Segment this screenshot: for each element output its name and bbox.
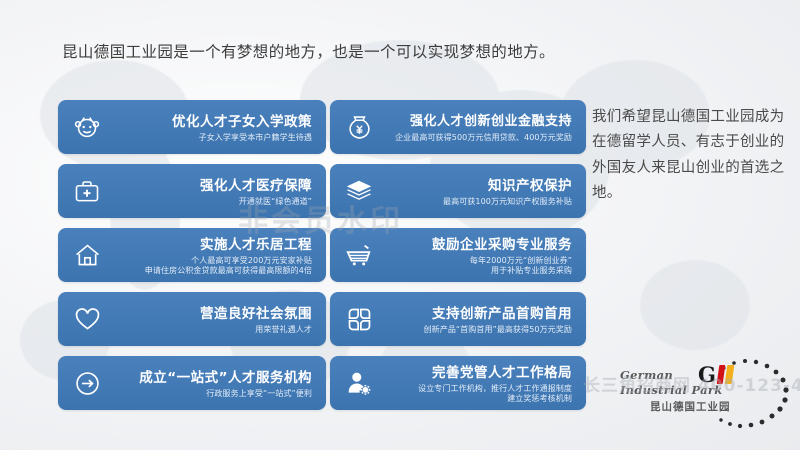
card-subline: 用于补贴专业服务采购 [380, 266, 572, 275]
arrow-circle-icon [66, 362, 108, 404]
card-headline: 成立“一站式”人才服务机构 [139, 370, 312, 386]
card-headline: 鼓励企业采购专业服务 [432, 237, 572, 253]
gip-logo: G German Industrial Park 昆山德国工业园 [620, 368, 790, 430]
gip-mark: G [698, 364, 733, 385]
card-headline: 营造良好社会氛围 [200, 306, 312, 322]
four-petals-icon [338, 298, 380, 340]
card-subline: 建立奖惩考核机制 [380, 394, 572, 403]
card-optimize-children-enrollment[interactable]: 优化人才子女入学政策 子女入学享受本市户籍学生待遇 [58, 100, 326, 154]
card-subline: 开通就医“绿色通道” [108, 197, 312, 206]
card-medical-guarantee[interactable]: 强化人才医疗保障 开通就医“绿色通道” [58, 164, 326, 218]
card-text: 优化人才子女入学政策 子女入学享受本市户籍学生待遇 [108, 112, 316, 143]
card-text: 强化人才创新创业金融支持 企业最高可获得500万元信用贷款、400万元奖励 [380, 111, 576, 142]
logo-yellow-bar [725, 365, 735, 384]
medical-kit-icon [66, 170, 108, 212]
shopping-cart-icon [338, 234, 380, 276]
card-headline: 完善党管人才工作格局 [432, 365, 572, 381]
left-card-column: 优化人才子女入学政策 子女入学享受本市户籍学生待遇 强化人才医疗保障 开通就医“… [58, 100, 326, 420]
home-icon [66, 234, 108, 276]
child-face-icon [66, 106, 108, 148]
heart-icon [66, 298, 108, 340]
card-headline: 支持创新产品首购首用 [432, 306, 572, 322]
card-professional-services-procurement[interactable]: 鼓励企业采购专业服务 每年2000万元“创新创业券” 用于补贴专业服务采购 [330, 228, 586, 282]
card-first-purchase-support[interactable]: 支持创新产品首购首用 创新产品“首购首用”最高获得50万元奖励 [330, 292, 586, 346]
card-text: 成立“一站式”人才服务机构 行政服务上享受“一站式”便利 [108, 368, 316, 399]
card-headline: 实施人才乐居工程 [200, 237, 312, 253]
card-headline: 优化人才子女入学政策 [172, 114, 312, 130]
person-gear-icon [338, 362, 380, 404]
card-subline: 最高可获100万元知识产权服务补贴 [380, 197, 572, 206]
card-social-atmosphere[interactable]: 营造良好社会氛围 用荣誉礼遇人才 [58, 292, 326, 346]
page-title: 昆山德国工业园是一个有梦想的地方，也是一个可以实现梦想的地方。 [62, 40, 555, 62]
card-subline: 创新产品“首购首用”最高获得50万元奖励 [380, 325, 572, 334]
slide-canvas: 昆山德国工业园是一个有梦想的地方，也是一个可以实现梦想的地方。 优化人才子女入学… [0, 0, 800, 450]
money-bag-icon [338, 106, 380, 148]
card-subline: 每年2000万元“创新创业券” [380, 256, 572, 265]
card-headline: 强化人才医疗保障 [200, 178, 312, 194]
card-subline: 行政服务上享受“一站式”便利 [108, 389, 312, 398]
card-text: 支持创新产品首购首用 创新产品“首购首用”最高获得50万元奖励 [380, 304, 576, 335]
card-headline: 知识产权保护 [488, 178, 572, 194]
card-subline: 设立专门工作机构，推行人才工作通报制度 [380, 384, 572, 393]
card-talent-housing-project[interactable]: 实施人才乐居工程 个人最高可享受200万元安家补贴 申请住房公积金贷款最高可获得… [58, 228, 326, 282]
card-text: 知识产权保护 最高可获100万元知识产权服务补贴 [380, 176, 576, 207]
card-text: 完善党管人才工作格局 设立专门工作机构，推行人才工作通报制度 建立奖惩考核机制 [380, 363, 576, 404]
card-text: 强化人才医疗保障 开通就医“绿色通道” [108, 176, 316, 207]
card-subline: 个人最高可享受200万元安家补贴 [108, 256, 312, 265]
card-one-stop-service[interactable]: 成立“一站式”人才服务机构 行政服务上享受“一站式”便利 [58, 356, 326, 410]
card-text: 鼓励企业采购专业服务 每年2000万元“创新创业券” 用于补贴专业服务采购 [380, 235, 576, 276]
card-ip-protection[interactable]: 知识产权保护 最高可获100万元知识产权服务补贴 [330, 164, 586, 218]
right-card-column: 强化人才创新创业金融支持 企业最高可获得500万元信用贷款、400万元奖励 知识… [330, 100, 586, 420]
card-subline: 申请住房公积金贷款最高可获得最高限额的4倍 [108, 266, 312, 275]
card-subline: 企业最高可获得500万元信用贷款、400万元奖励 [380, 133, 572, 142]
side-paragraph: 我们希望昆山德国工业园成为在德留学人员、有志于创业的外国友人来昆山创业的首选之地… [592, 105, 788, 207]
card-text: 实施人才乐居工程 个人最高可享受200万元安家补贴 申请住房公积金贷款最高可获得… [108, 235, 316, 276]
card-subline: 用荣誉礼遇人才 [108, 325, 312, 334]
logo-g-letter: G [698, 364, 716, 385]
card-financial-support[interactable]: 强化人才创新创业金融支持 企业最高可获得500万元信用贷款、400万元奖励 [330, 100, 586, 154]
books-stack-icon [338, 170, 380, 212]
card-subline: 子女入学享受本市户籍学生待遇 [108, 133, 312, 142]
card-headline: 强化人才创新创业金融支持 [410, 114, 572, 129]
card-party-talent-management[interactable]: 完善党管人才工作格局 设立专门工作机构，推行人才工作通报制度 建立奖惩考核机制 [330, 356, 586, 410]
card-text: 营造良好社会氛围 用荣誉礼遇人才 [108, 304, 316, 335]
